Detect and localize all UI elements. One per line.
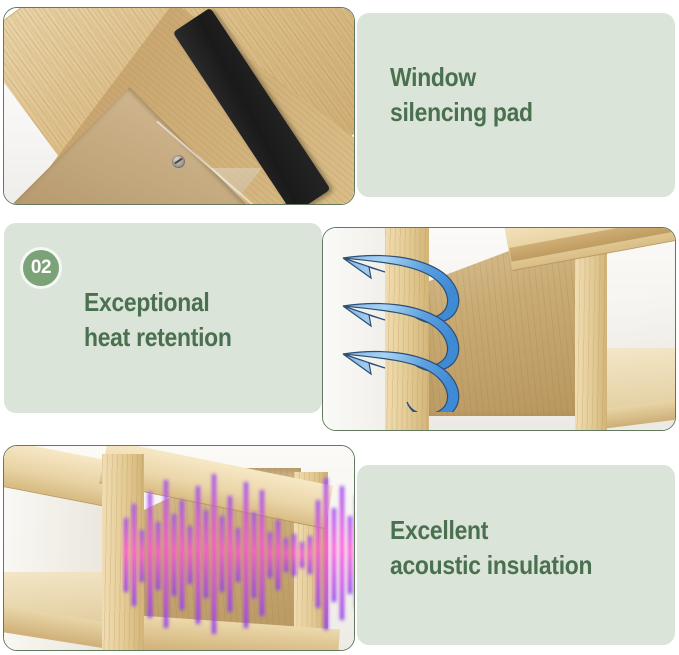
feature-text-card-1: Window silencing pad 01 xyxy=(357,13,675,197)
feature-text-card-2: Exceptional heat retention 02 xyxy=(4,223,322,413)
acoustic-insulation-photo xyxy=(3,445,355,651)
feature-text-card-3: Excellent acoustic insulation 03 xyxy=(357,465,675,645)
feature-title-1: Window silencing pad xyxy=(390,60,533,129)
heat-retention-photo xyxy=(322,227,676,431)
feature-row-3: Excellent acoustic insulation 03 xyxy=(0,440,679,655)
heat-arrow xyxy=(343,351,459,412)
feature-row-2: Exceptional heat retention 02 xyxy=(0,218,679,434)
waveform-bars xyxy=(124,474,355,634)
feature-row-1: Window silencing pad 01 xyxy=(0,0,679,212)
heat-arrows-group xyxy=(341,252,531,412)
window-silencing-pad-photo xyxy=(3,7,355,205)
sound-waveform-group xyxy=(122,456,355,642)
feature-infographic: Window silencing pad 01 Exceptional heat… xyxy=(0,0,679,655)
feature-title-3: Excellent acoustic insulation xyxy=(390,513,592,582)
screw-icon xyxy=(172,155,185,168)
feature-number-badge-02: 02 xyxy=(20,247,62,289)
cabinet-right-post xyxy=(575,238,607,431)
feature-title-2: Exceptional heat retention xyxy=(84,285,232,354)
